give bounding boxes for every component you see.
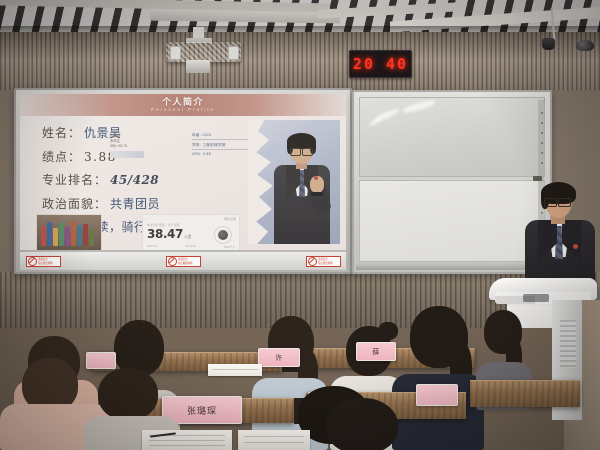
gpa-badge-line: 558 / 65.75 xyxy=(110,144,146,149)
nameplate-blank-right xyxy=(416,384,458,406)
paper-rule xyxy=(149,440,225,441)
slide-cycling-app-screenshot: < 骑行记录 本次骑行里程 / 累计里程 38.47公里 02:04:16 18… xyxy=(142,214,240,250)
whiteboard-upper-panel xyxy=(359,97,545,177)
warning-text: 注意安全 禁止触摸屏幕 xyxy=(178,258,192,265)
book xyxy=(83,224,88,246)
projector-lens-housing xyxy=(186,60,210,73)
projection-screen-frame: 个人简介 Personal Profile 姓名： 仇景昊 绩点： 3.88 xyxy=(14,88,352,274)
desk-row-near-right xyxy=(470,380,580,407)
slide-row-label: 专业排名： xyxy=(42,171,107,188)
slide-row-value: 共青团员 xyxy=(110,195,160,212)
student-near-right xyxy=(320,396,406,450)
slide-info-box: 年级: 2024 学院: 工程机械学院 GPA: 3.88 xyxy=(192,132,250,158)
upper-wall-wood-slats xyxy=(0,32,600,94)
desk-paper xyxy=(238,430,310,450)
book xyxy=(65,227,70,246)
lectern-shadow xyxy=(495,296,535,304)
slide-portrait-photo xyxy=(248,120,340,244)
classroom-photo-scene: 20 40 个人简介 Personal Profile 姓名： 仇景昊 xyxy=(0,0,600,450)
desk-paper xyxy=(142,430,232,450)
track-dot xyxy=(541,132,543,134)
no-touch-icon xyxy=(308,257,317,266)
track-dot xyxy=(541,112,543,114)
warning-sticker: 注意安全 禁止靠近屏幕 xyxy=(26,256,61,267)
slide-gpa-badge: 仇景昊 本科生 558 / 65.75 xyxy=(110,134,146,158)
app-header: < 骑行记录 xyxy=(143,215,239,222)
nameplate-text: 薛 xyxy=(372,347,380,357)
warning-sticker: 注意安全 禁止触摸屏幕 xyxy=(166,256,201,267)
nameplate-text: 许 xyxy=(275,353,283,363)
slide-row-label: 姓名： xyxy=(42,124,81,141)
portrait-person xyxy=(274,132,330,244)
info-line-grade: 年级: 2024 xyxy=(192,132,250,138)
slide-bookshelf-photo xyxy=(36,214,102,250)
whiteboard-handle[interactable] xyxy=(533,176,542,181)
ride-progress-ring xyxy=(214,226,232,244)
slide-body: 姓名： 仇景昊 绩点： 3.88 专业排名： 45/428 政治面貌： xyxy=(20,116,346,250)
paper-rule xyxy=(244,436,305,437)
nameplate-text: 张璐琛 xyxy=(187,404,217,417)
track-dot xyxy=(541,152,543,154)
app-title: 骑行记录 xyxy=(224,217,236,221)
clock-time: 20 40 xyxy=(353,55,408,73)
slide-row-political: 政治面貌： 共青团员 xyxy=(42,195,237,212)
ride-duration: 02:04:16 xyxy=(147,245,157,249)
glare xyxy=(402,98,437,114)
info-divider xyxy=(192,149,250,150)
ride-footer: 02:04:16 18.7km/h 9548千卡 xyxy=(147,245,235,249)
ride-calories: 9548千卡 xyxy=(224,245,235,249)
digital-wall-clock: 20 40 xyxy=(349,50,412,78)
ride-distance-unit: 公里 xyxy=(184,234,191,239)
projector-vent xyxy=(170,46,181,60)
ride-distance-value: 38.47 xyxy=(147,227,183,241)
ride-distance: 38.47公里 xyxy=(147,227,191,241)
warning-line: 禁止靠近屏幕 xyxy=(318,262,332,265)
back-icon: < xyxy=(146,217,148,221)
book xyxy=(53,228,58,246)
warning-text: 注意安全 禁止靠近屏幕 xyxy=(38,258,52,265)
gpa-badge-bar xyxy=(110,151,144,158)
glasses-icon xyxy=(544,198,571,205)
nameplate-xue: 薛 xyxy=(356,342,396,361)
paper-rule xyxy=(244,442,305,443)
book xyxy=(71,221,76,246)
ride-speed: 18.7km/h xyxy=(185,245,196,249)
book xyxy=(47,222,52,246)
slide-row-value: 45/428 xyxy=(110,173,159,187)
portrait-watch xyxy=(311,192,323,196)
column-vent-grille xyxy=(560,320,576,368)
desk-paper xyxy=(208,364,262,376)
glasses-icon xyxy=(290,148,313,154)
student-head xyxy=(98,368,158,420)
info-line-college: 学院: 工程机械学院 xyxy=(192,142,250,148)
whiteboard-lower-panel xyxy=(359,180,545,262)
slide-row-label: 政治面貌： xyxy=(42,195,107,212)
projection-screen-surface: 个人简介 Personal Profile 姓名： 仇景昊 绩点： 3.88 xyxy=(20,94,346,250)
presenter-lapel-pin xyxy=(573,244,578,249)
slide-row-label: 绩点： xyxy=(42,148,81,165)
security-camera xyxy=(542,38,555,50)
glare xyxy=(368,117,382,127)
warning-text: 注意安全 禁止靠近屏幕 xyxy=(318,258,332,265)
track-dot xyxy=(541,162,543,164)
slide-title: 个人简介 xyxy=(162,97,204,107)
info-line-gpa: GPA: 3.88 xyxy=(192,151,250,157)
book xyxy=(89,228,94,246)
paper-rule xyxy=(212,369,257,370)
projector-vent xyxy=(228,46,239,60)
presentation-slide: 个人简介 Personal Profile 姓名： 仇景昊 绩点： 3.88 xyxy=(20,94,346,250)
portrait-lapel-pin xyxy=(314,176,318,180)
info-divider xyxy=(192,139,250,140)
no-touch-icon xyxy=(28,257,37,266)
warning-line: 禁止触摸屏幕 xyxy=(178,262,192,265)
slide-title-bar: 个人简介 Personal Profile xyxy=(20,94,346,116)
sliding-whiteboard xyxy=(352,90,552,274)
book xyxy=(41,226,46,246)
book xyxy=(59,223,64,246)
slide-subtitle: Personal Profile xyxy=(151,107,215,113)
track-dot xyxy=(541,122,543,124)
nameplate-xu: 许 xyxy=(258,348,300,367)
warning-sticker: 注意安全 禁止靠近屏幕 xyxy=(306,256,341,267)
paper-rule xyxy=(149,445,225,446)
student-head xyxy=(326,398,398,450)
book xyxy=(77,225,82,246)
no-touch-icon xyxy=(168,257,177,266)
dome-camera-icon xyxy=(576,40,594,51)
screen-bottom-rail: 注意安全 禁止靠近屏幕 注意安全 禁止触摸屏幕 注意安全 禁止靠近屏幕 xyxy=(20,251,346,270)
slide-row-rank: 专业排名： 45/428 xyxy=(42,171,237,188)
warning-line: 禁止靠近屏幕 xyxy=(38,262,52,265)
whiteboard-tray xyxy=(356,263,548,270)
track-dot xyxy=(541,142,543,144)
